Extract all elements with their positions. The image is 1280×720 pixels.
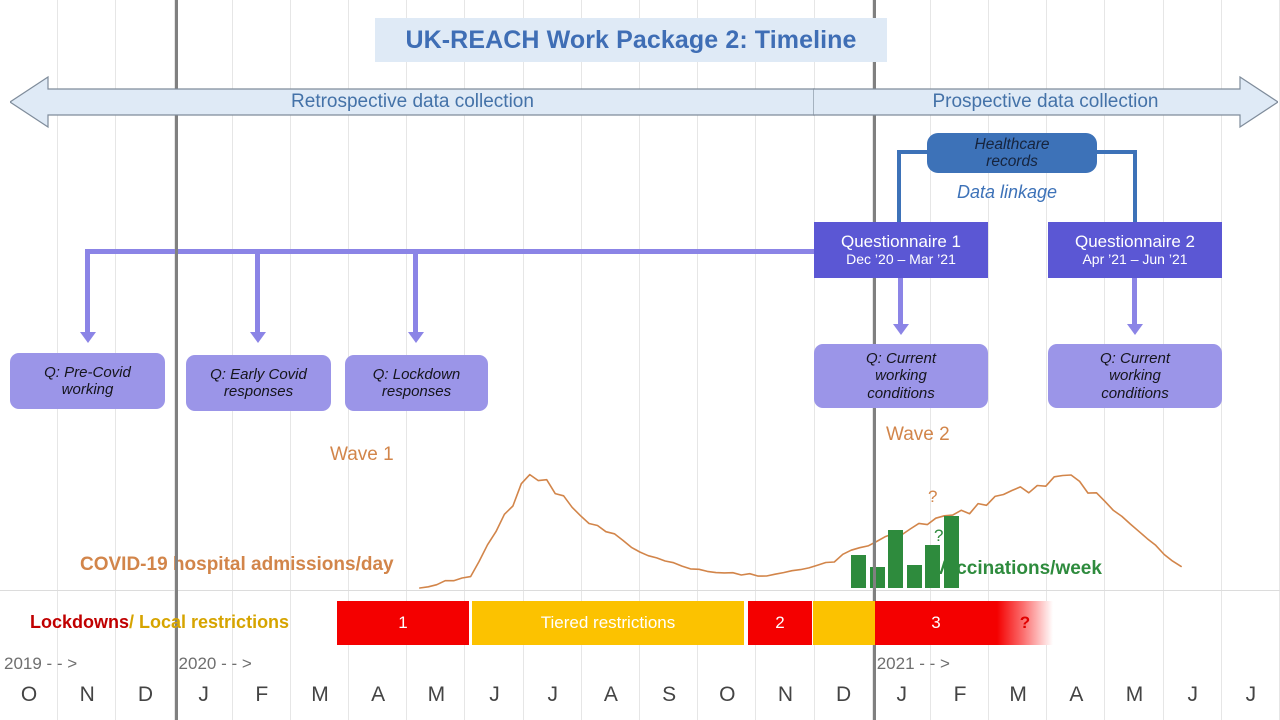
month-label-F-4: F bbox=[233, 683, 291, 707]
question-box-lockdown[interactable]: Q: Lockdown responses bbox=[345, 355, 488, 411]
prospective-banner: Prospective data collection bbox=[813, 75, 1278, 129]
admissions-series-label: COVID-19 hospital admissions/day bbox=[80, 554, 394, 576]
month-label-N-1: N bbox=[58, 683, 116, 707]
retro-arrowhead-1 bbox=[80, 332, 96, 343]
lockdown-segment-tiered[interactable]: Tiered restrictions bbox=[472, 601, 744, 645]
question-box-current-2-line2: working bbox=[1109, 367, 1161, 385]
vaccination-bar-3 bbox=[907, 565, 922, 588]
month-label-M-19: M bbox=[1105, 683, 1163, 707]
year-label-0: 2019 - - > bbox=[4, 654, 77, 674]
lockdown-segment-amber-2[interactable] bbox=[813, 601, 875, 645]
vaccination-bar-1 bbox=[870, 567, 885, 588]
question-box-current-1-line2: working bbox=[875, 367, 927, 385]
month-label-N-13: N bbox=[756, 683, 814, 707]
vaccination-bar-4 bbox=[925, 545, 940, 588]
lockdown-segment-unknown-label: ? bbox=[1020, 613, 1030, 633]
lockdown-segment-tiered-label: Tiered restrictions bbox=[541, 613, 675, 633]
lockdown-segment-3[interactable]: 3 bbox=[875, 601, 997, 645]
year-label-2: 2021 - - > bbox=[877, 654, 950, 674]
vaccinations-series-label: Vaccinations/week bbox=[934, 558, 1102, 580]
month-label-D-2: D bbox=[116, 683, 174, 707]
retro-connector-horizontal bbox=[85, 249, 818, 254]
chart-baseline bbox=[0, 590, 1280, 591]
month-label-O-12: O bbox=[698, 683, 756, 707]
wave-2-label: Wave 2 bbox=[886, 424, 950, 446]
lockdown-segment-3-label: 3 bbox=[931, 613, 940, 633]
lockdown-segment-unknown[interactable]: ? bbox=[997, 601, 1053, 645]
question-box-early-covid-line1: Q: Early Covid bbox=[210, 366, 307, 384]
question-box-early-covid-line2: responses bbox=[224, 383, 293, 401]
question-box-lockdown-line2: responses bbox=[382, 383, 451, 401]
retro-connector-drop-1 bbox=[85, 249, 90, 334]
healthcare-records-line1: Healthcare bbox=[975, 136, 1050, 153]
healthcare-records-box[interactable]: Healthcare records bbox=[927, 133, 1097, 173]
month-label-M-5: M bbox=[291, 683, 349, 707]
lockdowns-label: Lockdowns/ Local restrictions bbox=[30, 612, 289, 633]
month-label-M-7: M bbox=[407, 683, 465, 707]
retro-connector-drop-3 bbox=[413, 249, 418, 334]
question-box-current-1-line3: conditions bbox=[867, 385, 935, 403]
month-label-D-14: D bbox=[815, 683, 873, 707]
vaccination-bar-5 bbox=[944, 516, 959, 588]
questionnaire-1-dates: Dec ’20 – Mar ’21 bbox=[846, 251, 956, 268]
month-label-A-18: A bbox=[1047, 683, 1105, 707]
lockdown-segment-2-label: 2 bbox=[775, 613, 784, 633]
data-linkage-label: Data linkage bbox=[957, 182, 1057, 203]
curve-question-mark: ? bbox=[928, 487, 937, 507]
vaccination-bar-2 bbox=[888, 530, 903, 588]
month-label-J-3: J bbox=[175, 683, 233, 707]
month-label-M-17: M bbox=[989, 683, 1047, 707]
lockdown-segment-1[interactable]: 1 bbox=[337, 601, 469, 645]
q2-connector-drop bbox=[1132, 278, 1137, 326]
questionnaire-1-title: Questionnaire 1 bbox=[841, 232, 961, 251]
questionnaire-2-title: Questionnaire 2 bbox=[1075, 232, 1195, 251]
lockdown-segment-1-label: 1 bbox=[398, 613, 407, 633]
month-label-J-8: J bbox=[465, 683, 523, 707]
question-box-current-2-line1: Q: Current bbox=[1100, 350, 1170, 368]
year-label-1: 2020 - - > bbox=[179, 654, 252, 674]
healthcare-records-line2: records bbox=[986, 153, 1038, 170]
question-box-pre-covid-line1: Q: Pre-Covid bbox=[44, 364, 131, 382]
question-box-current-2-line3: conditions bbox=[1101, 385, 1169, 403]
question-box-current-2[interactable]: Q: Current working conditions bbox=[1048, 344, 1222, 408]
question-box-pre-covid[interactable]: Q: Pre-Covid working bbox=[10, 353, 165, 409]
month-label-J-21: J bbox=[1222, 683, 1280, 707]
timeline-diagram: UK-REACH Work Package 2: Timeline Retros… bbox=[0, 0, 1280, 720]
month-label-S-11: S bbox=[640, 683, 698, 707]
vaccination-bar-0 bbox=[851, 555, 866, 588]
month-label-O-0: O bbox=[0, 683, 58, 707]
page-title: UK-REACH Work Package 2: Timeline bbox=[375, 18, 887, 62]
month-label-F-16: F bbox=[931, 683, 989, 707]
month-label-J-9: J bbox=[524, 683, 582, 707]
q2-arrowhead bbox=[1127, 324, 1143, 335]
retro-arrowhead-2 bbox=[250, 332, 266, 343]
month-label-J-15: J bbox=[873, 683, 931, 707]
question-box-pre-covid-line2: working bbox=[62, 381, 114, 399]
questionnaire-2-box[interactable]: Questionnaire 2 Apr ’21 – Jun ’21 bbox=[1048, 222, 1222, 278]
question-box-lockdown-line1: Q: Lockdown bbox=[373, 366, 461, 384]
bars-question-mark: ? bbox=[934, 526, 943, 546]
retro-connector-drop-2 bbox=[255, 249, 260, 334]
questionnaire-1-box[interactable]: Questionnaire 1 Dec ’20 – Mar ’21 bbox=[814, 222, 988, 278]
wave-1-label: Wave 1 bbox=[330, 444, 394, 466]
lockdown-segment-2[interactable]: 2 bbox=[748, 601, 812, 645]
q1-connector-drop bbox=[898, 278, 903, 326]
month-label-A-10: A bbox=[582, 683, 640, 707]
lockdowns-label-bold: Lockdowns bbox=[30, 612, 129, 632]
month-label-A-6: A bbox=[349, 683, 407, 707]
page-title-text: UK-REACH Work Package 2: Timeline bbox=[405, 26, 856, 55]
questionnaire-2-dates: Apr ’21 – Jun ’21 bbox=[1082, 251, 1187, 268]
question-box-early-covid[interactable]: Q: Early Covid responses bbox=[186, 355, 331, 411]
question-box-current-1[interactable]: Q: Current working conditions bbox=[814, 344, 988, 408]
lockdowns-label-rest: / Local restrictions bbox=[129, 612, 289, 632]
question-box-current-1-line1: Q: Current bbox=[866, 350, 936, 368]
retrospective-banner: Retrospective data collection bbox=[10, 75, 815, 129]
q1-arrowhead bbox=[893, 324, 909, 335]
month-label-J-20: J bbox=[1164, 683, 1222, 707]
retro-arrowhead-3 bbox=[408, 332, 424, 343]
